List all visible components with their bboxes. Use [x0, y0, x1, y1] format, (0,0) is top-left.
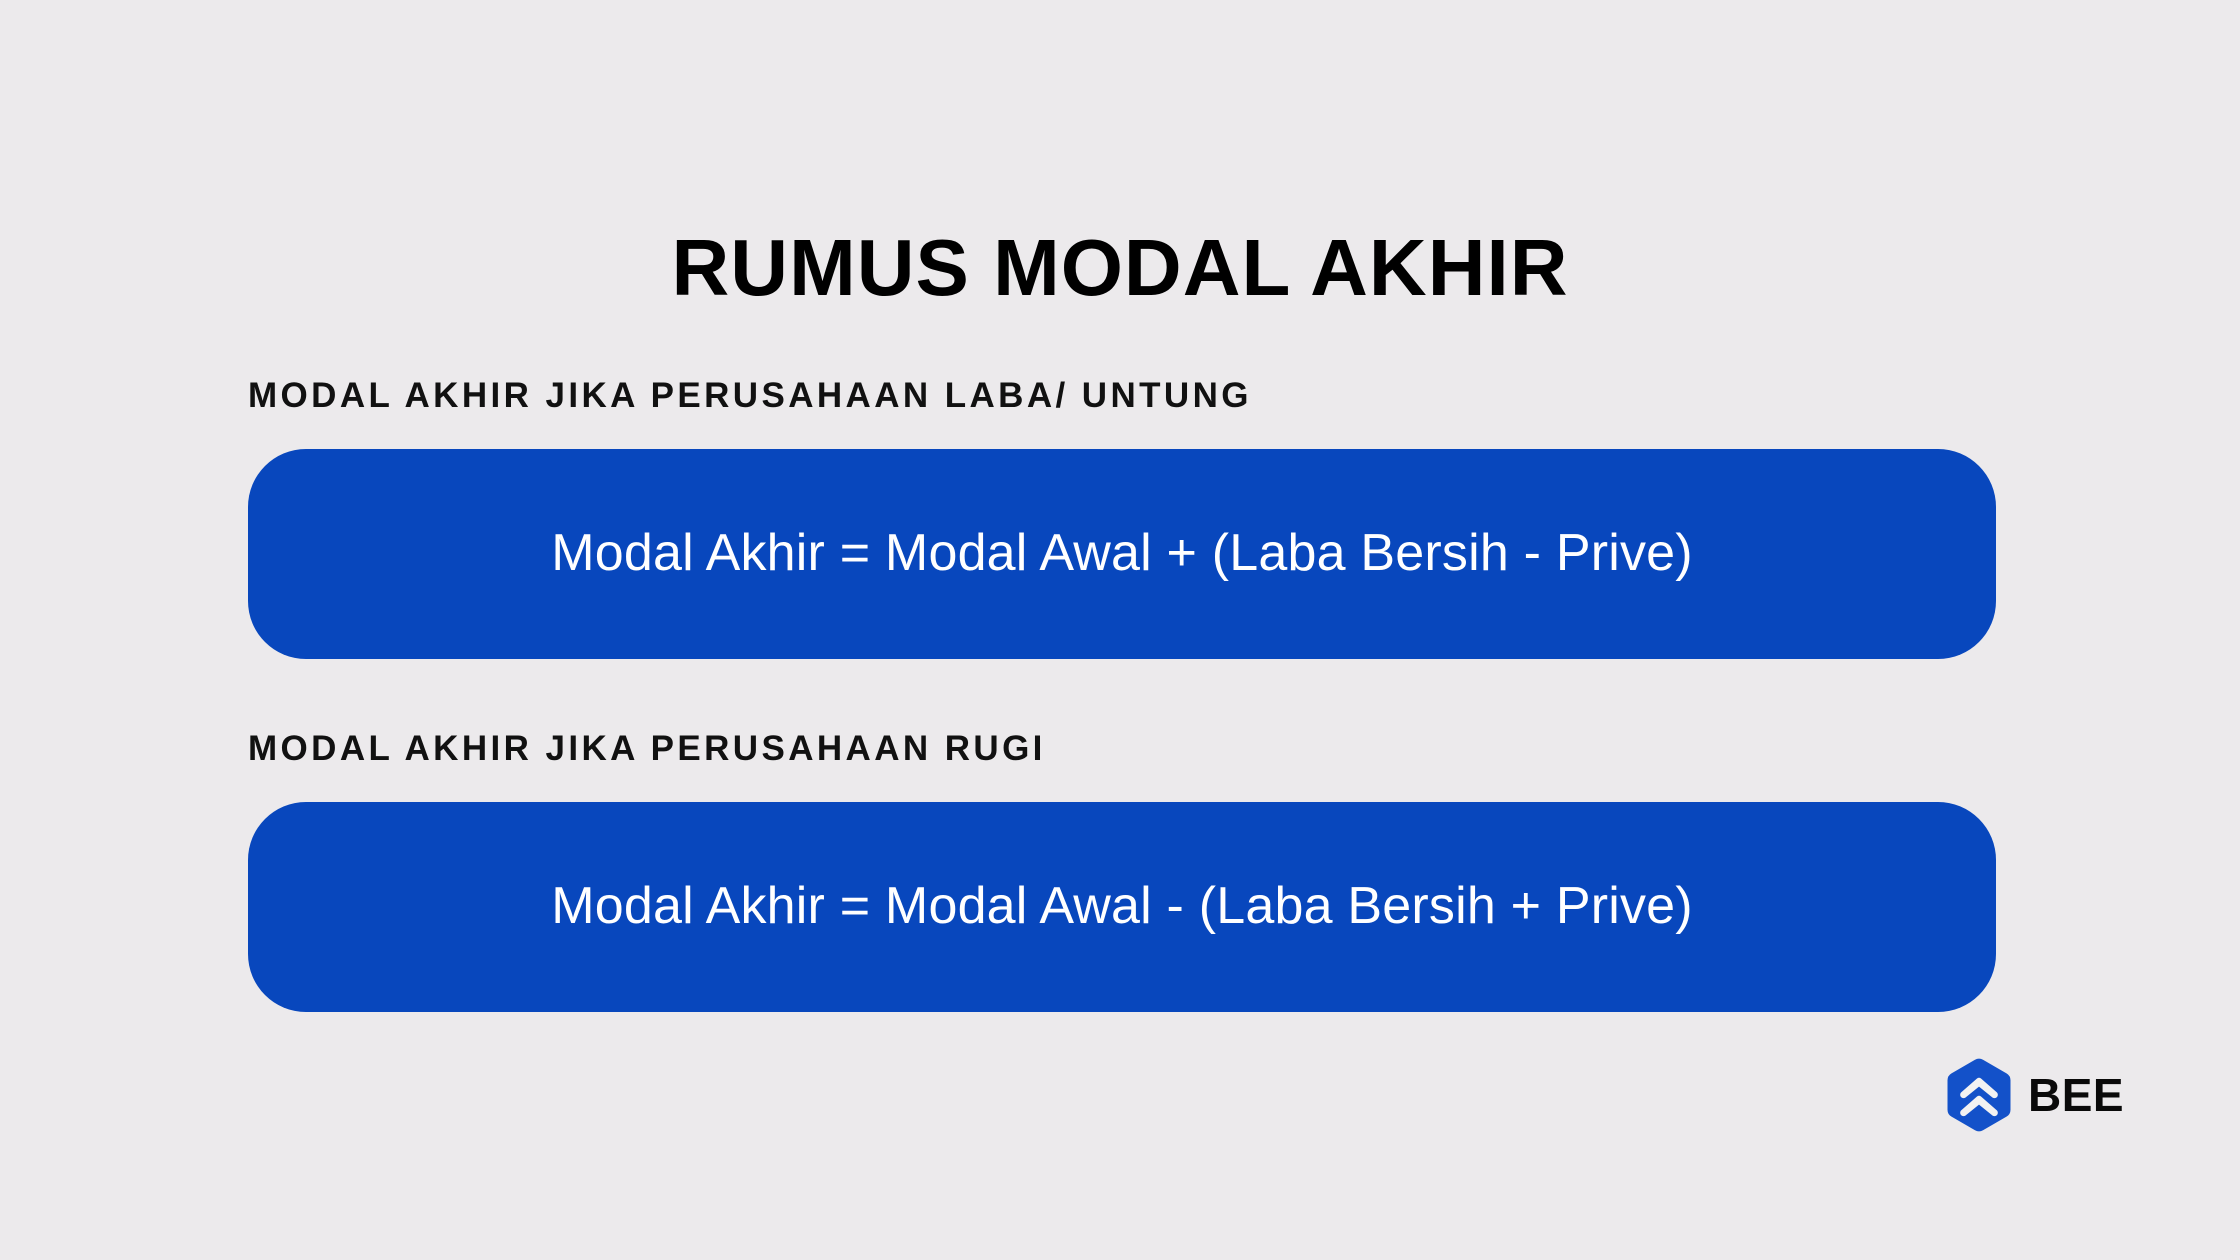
- brand-logo: BEE: [1944, 1058, 2124, 1132]
- formula-text-laba: Modal Akhir = Modal Awal + (Laba Bersih …: [551, 525, 1693, 582]
- page-title: RUMUS MODAL AKHIR: [0, 228, 2240, 308]
- bee-hexagon-chevrons-icon: [1944, 1058, 2014, 1132]
- section-label-laba: MODAL AKHIR JIKA PERUSAHAAN LABA/ UNTUNG: [248, 378, 1996, 413]
- formula-section-rugi: MODAL AKHIR JIKA PERUSAHAAN RUGI Modal A…: [248, 731, 1996, 1012]
- formula-section-laba: MODAL AKHIR JIKA PERUSAHAAN LABA/ UNTUNG…: [248, 378, 1996, 659]
- slide-canvas: RUMUS MODAL AKHIR MODAL AKHIR JIKA PERUS…: [0, 0, 2240, 1260]
- formula-box-laba: Modal Akhir = Modal Awal + (Laba Bersih …: [248, 449, 1996, 659]
- formula-box-rugi: Modal Akhir = Modal Awal - (Laba Bersih …: [248, 802, 1996, 1012]
- brand-logo-text: BEE: [2028, 1072, 2124, 1118]
- formula-text-rugi: Modal Akhir = Modal Awal - (Laba Bersih …: [551, 878, 1693, 935]
- section-label-rugi: MODAL AKHIR JIKA PERUSAHAAN RUGI: [248, 731, 1996, 766]
